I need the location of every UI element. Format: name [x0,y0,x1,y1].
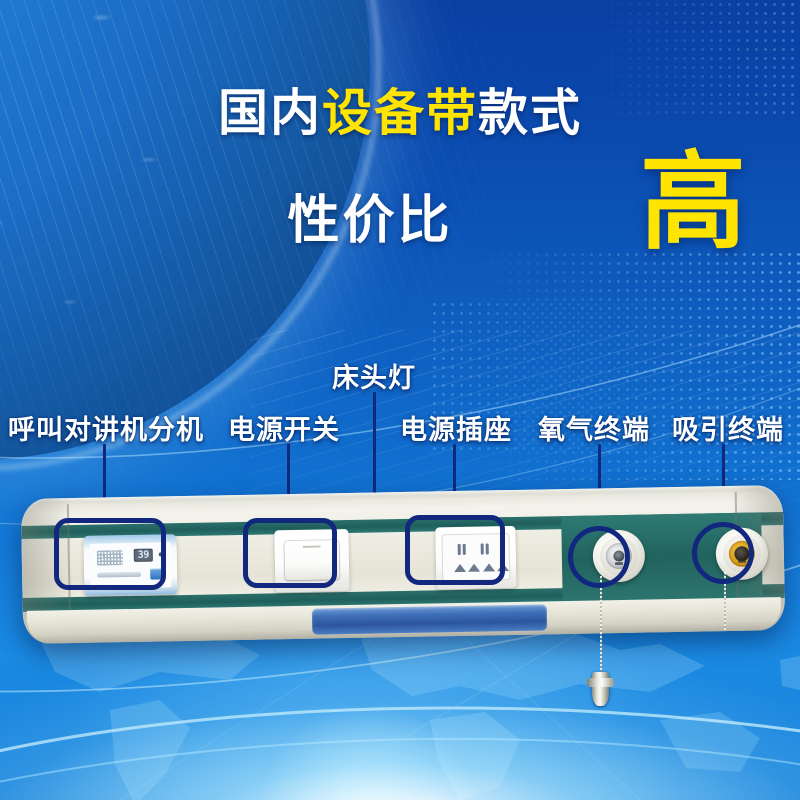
pull-cord-fitting[interactable] [592,672,609,706]
bed-lamp-diffuser-icon [312,604,547,634]
highlight-circle-suction [692,522,754,584]
headline-segment-white-1: 国内 [218,85,322,141]
headline-line-2: 性价比 高 [0,162,800,258]
callout-label-power-switch: 电源开关 [228,408,340,447]
callout-label-power-outlet: 电源插座 [400,408,512,447]
highlight-box-intercom [54,518,166,590]
callout-label-oxygen: 氧气终端 [538,408,650,447]
headline-segment-white-2: 款式 [478,85,582,141]
callout-label-intercom: 呼叫对讲机分机 [8,408,204,447]
bottom-glow [0,650,800,800]
switch-mount-screw [311,594,314,597]
headline-line-1: 国内设备带款式 [0,88,800,138]
callout-label-suction: 吸引终端 [672,408,784,447]
intercom-mount-screw [131,598,134,601]
headline-segment-yellow: 设备带 [322,85,478,141]
highlight-circle-oxygen [568,526,630,588]
headline-block: 国内设备带款式 性价比 高 [0,0,800,258]
highlight-box-power-switch [243,518,337,588]
product-banner: 国内设备带款式 性价比 高 呼叫对讲机分机 电源开关 床头灯 电源插座 氧气终端… [0,0,800,800]
headline-emphasis-character: 高 [640,150,746,256]
headline-value-phrase: 性价比 [287,178,452,253]
highlight-box-power-outlet [405,515,505,585]
callout-label-bed-lamp: 床头灯 [332,356,416,395]
